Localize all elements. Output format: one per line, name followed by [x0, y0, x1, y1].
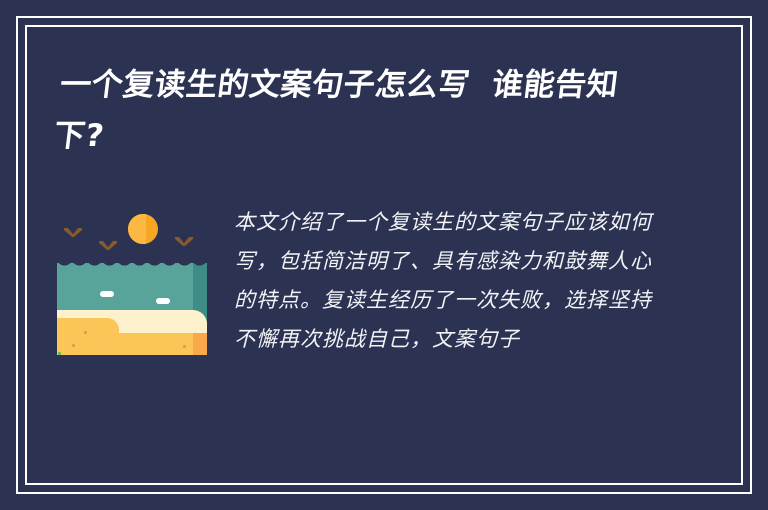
article-card: 一个复读生的文案句子怎么写 谁能告知下? 本文介: [0, 0, 768, 510]
page-title: 一个复读生的文案句子怎么写 谁能告知下?: [51, 60, 664, 162]
sand-grain-icon: [72, 344, 75, 347]
sand-lower: [107, 333, 207, 355]
corner-pixel-marker: [58, 352, 61, 355]
sand-grain-icon: [183, 345, 186, 348]
wave-crest-icon: [57, 258, 207, 272]
beach-scene-illustration: [57, 205, 207, 355]
foam-mark-icon: [100, 291, 114, 297]
foam-mark-icon: [156, 298, 170, 304]
content-row: 本文介绍了一个复读生的文案句子应该如何写，包括简洁明了、具有感染力和鼓舞人心的特…: [0, 195, 768, 460]
sand-grain-icon: [84, 331, 87, 334]
sand-shadow: [193, 333, 207, 355]
article-summary-text: 本文介绍了一个复读生的文案句子应该如何写，包括简洁明了、具有感染力和鼓舞人心的特…: [234, 203, 652, 359]
